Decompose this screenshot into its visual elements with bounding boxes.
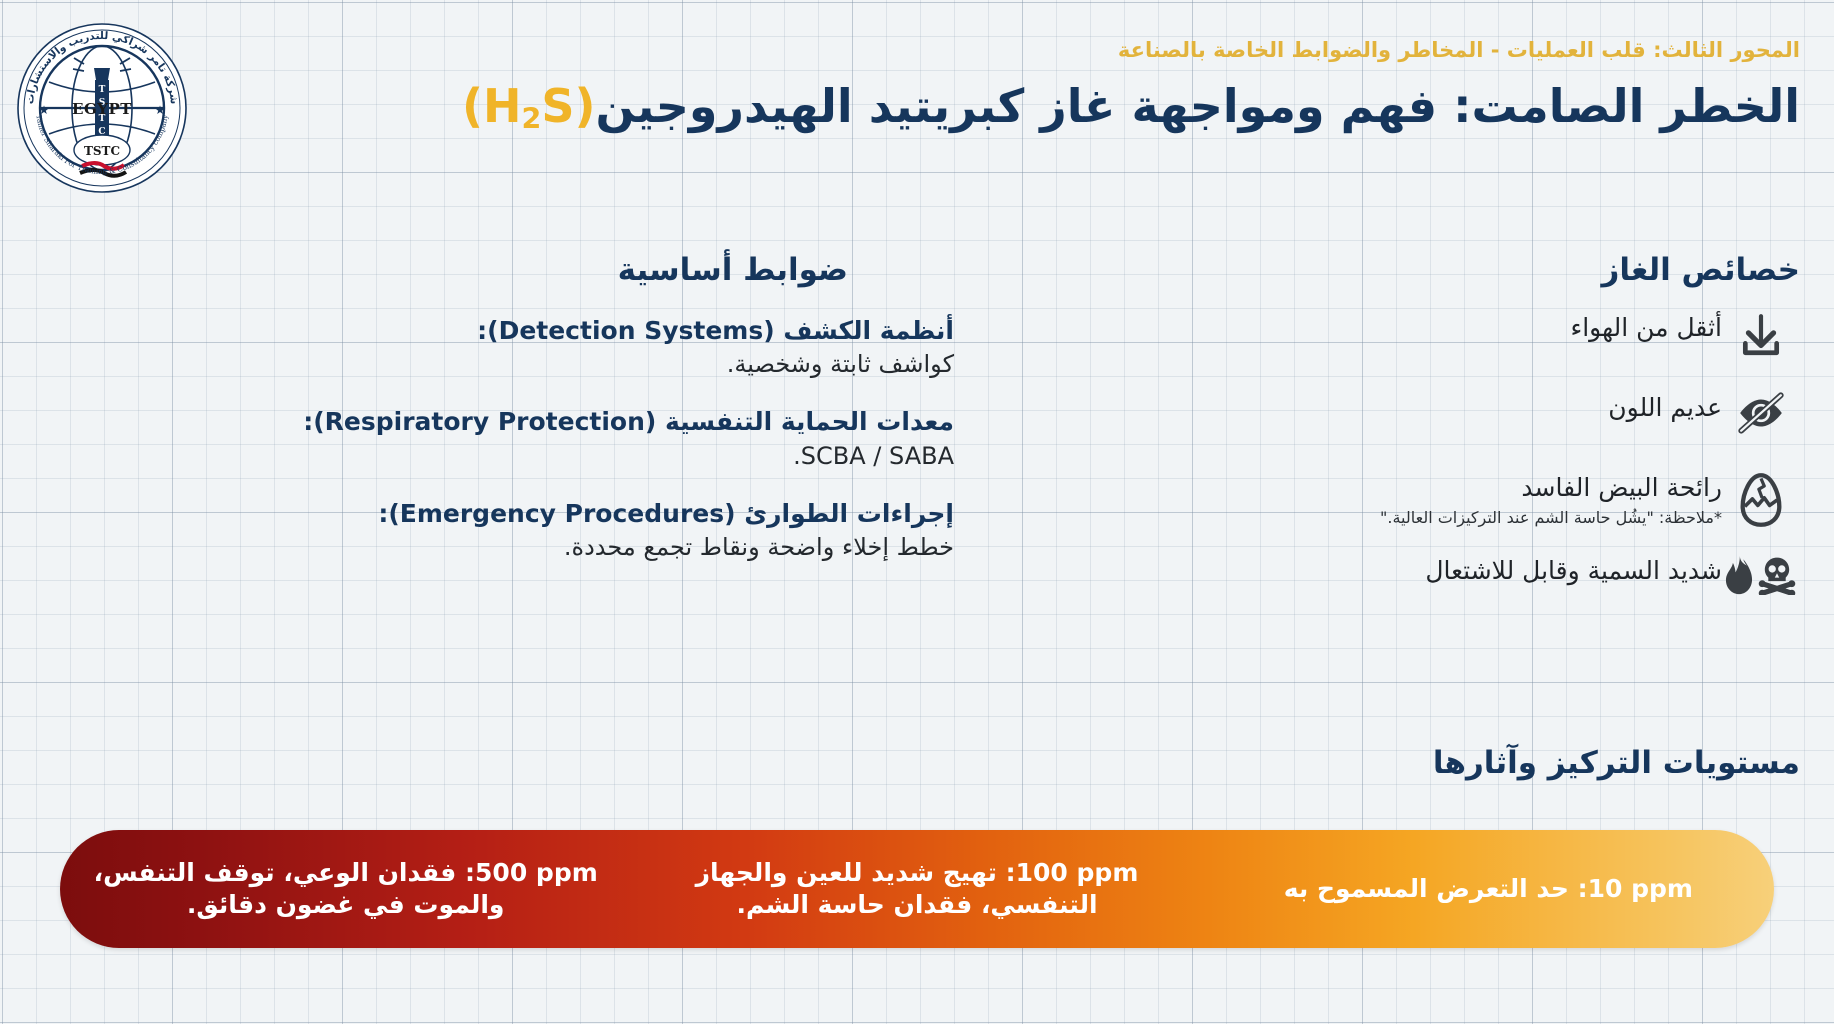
formula-open: (H bbox=[462, 79, 522, 133]
section-heading-concentration-levels: مستويات التركيز وآثارها bbox=[1433, 745, 1800, 781]
slide-canvas: T S T C EGYPT TSTC ★ ★ شركة تامر شراكي ل… bbox=[0, 0, 1834, 1024]
concentration-effect-text: حد التعرض المسموح به bbox=[1284, 874, 1569, 903]
controls-list: أنظمة الكشف (Detection Systems): كواشف ث… bbox=[204, 315, 954, 589]
control-title-colon: : bbox=[303, 407, 313, 436]
flame-icon bbox=[1725, 555, 1753, 595]
download-arrow-icon bbox=[1722, 310, 1800, 358]
gas-properties-list: أثقل من الهواء عديم اللون bbox=[1160, 310, 1800, 633]
gas-property-row-colorless: عديم اللون bbox=[1160, 390, 1800, 446]
gas-property-note: *ملاحظة: "يشُل حاسة الشم عند التركيزات ا… bbox=[1160, 508, 1722, 529]
concentration-separator: : bbox=[465, 858, 475, 887]
control-title-colon: : bbox=[378, 499, 388, 528]
logo-acronym-label: TSTC bbox=[84, 144, 120, 158]
cracked-egg-icon bbox=[1722, 470, 1800, 528]
skull-crossbones-icon bbox=[1757, 555, 1797, 595]
h2s-formula: (H2S) bbox=[462, 78, 596, 137]
concentration-ppm-value: 500 ppm bbox=[475, 858, 598, 887]
concentration-level-10ppm: 10 ppm: حد التعرض المسموح به bbox=[1203, 873, 1774, 905]
page-title-arabic: الخطر الصامت: فهم ومواجهة غاز كبريتيد ال… bbox=[596, 79, 1800, 133]
gas-property-label: عديم اللون bbox=[1160, 392, 1722, 423]
gas-property-text: شديد السمية وقابل للاشتعال bbox=[1160, 553, 1722, 586]
gas-property-row-heavier-than-air: أثقل من الهواء bbox=[1160, 310, 1800, 366]
logo-country-label: EGYPT bbox=[72, 100, 132, 118]
concentration-level-500ppm: 500 ppm: فقدان الوعي، توقف التنفس، والمو… bbox=[60, 857, 631, 921]
control-title-english: (Emergency Procedures) bbox=[388, 499, 735, 528]
gas-property-row-rotten-egg-smell: رائحة البيض الفاسد *ملاحظة: "يشُل حاسة ا… bbox=[1160, 470, 1800, 529]
gas-property-row-toxic-flammable: شديد السمية وقابل للاشتعال bbox=[1160, 553, 1800, 609]
control-title: إجراءات الطوارئ (Emergency Procedures): bbox=[204, 498, 954, 529]
eye-slash-icon bbox=[1722, 390, 1800, 434]
control-item-emergency-procedures: إجراءات الطوارئ (Emergency Procedures): … bbox=[204, 498, 954, 563]
concentration-level-100ppm: 100 ppm: تهيج شديد للعين والجهاز التنفسي… bbox=[631, 857, 1202, 921]
section-heading-controls: ضوابط أساسية bbox=[618, 252, 848, 288]
tstc-logo: T S T C EGYPT TSTC ★ ★ شركة تامر شراكي ل… bbox=[16, 22, 188, 194]
svg-text:T: T bbox=[99, 85, 106, 95]
control-item-respiratory-protection: معدات الحماية التنفسية (Respiratory Prot… bbox=[204, 406, 954, 471]
concentration-gradient-bar: 10 ppm: حد التعرض المسموح به 100 ppm: ته… bbox=[60, 830, 1774, 948]
control-item-detection-systems: أنظمة الكشف (Detection Systems): كواشف ث… bbox=[204, 315, 954, 380]
formula-close: S) bbox=[541, 79, 595, 133]
gas-property-label: أثقل من الهواء bbox=[1160, 312, 1722, 343]
control-title-arabic: معدات الحماية التنفسية bbox=[656, 407, 954, 436]
control-title-english: (Respiratory Protection) bbox=[313, 407, 656, 436]
section-heading-gas-properties: خصائص الغاز bbox=[1601, 252, 1800, 288]
concentration-ppm-value: 100 ppm bbox=[1016, 858, 1139, 887]
control-title: معدات الحماية التنفسية (Respiratory Prot… bbox=[204, 406, 954, 437]
control-title-arabic: أنظمة الكشف bbox=[775, 316, 954, 345]
control-title-english: (Detection Systems) bbox=[487, 316, 775, 345]
gas-property-label: رائحة البيض الفاسد bbox=[1160, 472, 1722, 503]
gas-property-label: شديد السمية وقابل للاشتعال bbox=[1160, 555, 1722, 586]
gas-property-text: رائحة البيض الفاسد *ملاحظة: "يشُل حاسة ا… bbox=[1160, 470, 1722, 529]
concentration-separator: : bbox=[1578, 874, 1588, 903]
page-title: الخطر الصامت: فهم ومواجهة غاز كبريتيد ال… bbox=[280, 78, 1800, 137]
eyebrow-axis-label: المحور الثالث: قلب العمليات - المخاطر وا… bbox=[300, 38, 1800, 62]
control-title: أنظمة الكشف (Detection Systems): bbox=[204, 315, 954, 346]
formula-subscript: 2 bbox=[522, 102, 542, 135]
control-body: SCBA / SABA. bbox=[204, 441, 954, 472]
control-body: خطط إخلاء واضحة ونقاط تجمع محددة. bbox=[204, 532, 954, 563]
toxic-flammable-icon-group bbox=[1722, 553, 1800, 595]
gas-property-text: أثقل من الهواء bbox=[1160, 310, 1722, 343]
gas-property-text: عديم اللون bbox=[1160, 390, 1722, 423]
control-body: كواشف ثابتة وشخصية. bbox=[204, 349, 954, 380]
control-title-arabic: إجراءات الطوارئ bbox=[736, 499, 954, 528]
control-title-colon: : bbox=[477, 316, 487, 345]
concentration-ppm-value: 10 ppm bbox=[1588, 874, 1693, 903]
concentration-separator: : bbox=[1006, 858, 1016, 887]
concentration-effect-text: فقدان الوعي، توقف التنفس، والموت في غضون… bbox=[94, 858, 505, 919]
